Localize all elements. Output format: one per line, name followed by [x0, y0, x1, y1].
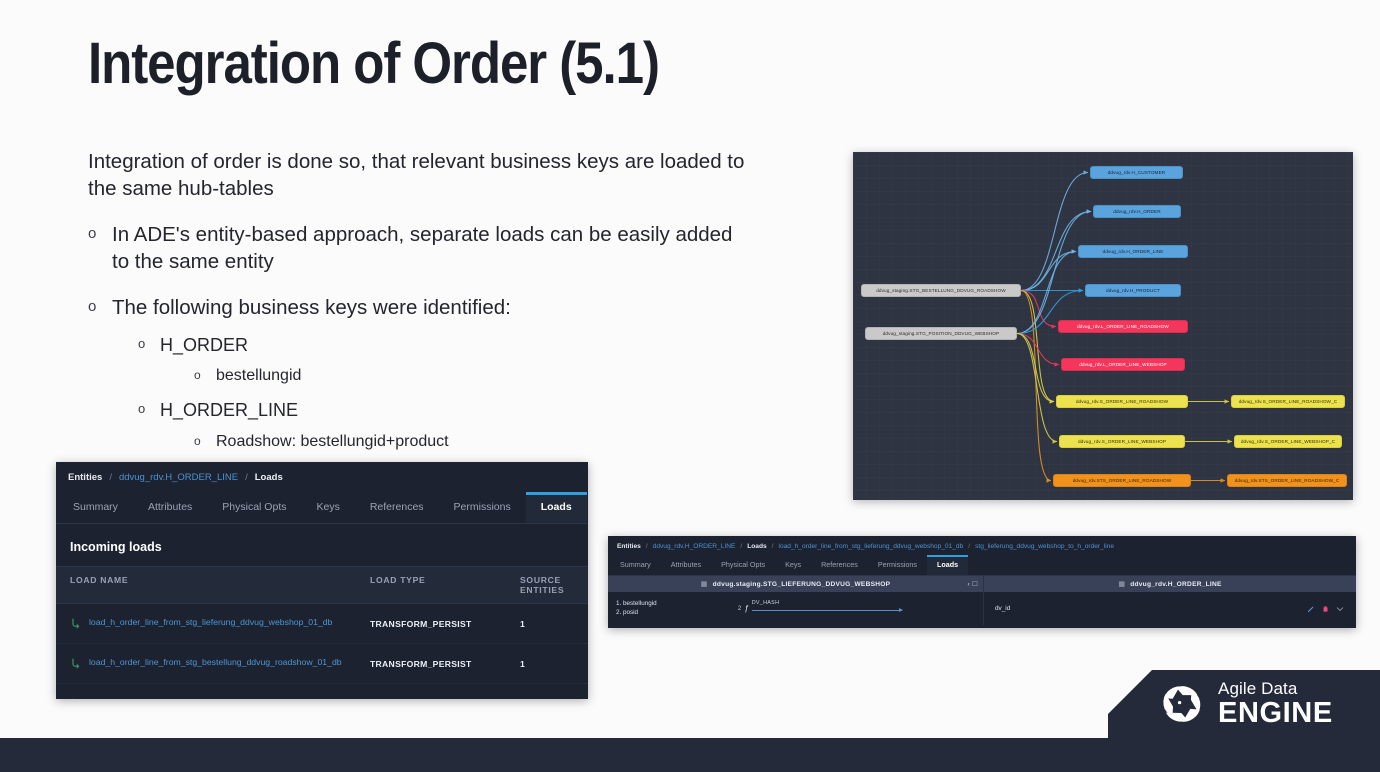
tab-bar[interactable]: SummaryAttributesPhysical OptsKeysRefere… [608, 555, 1356, 576]
cell-load-type: TRANSFORM_PERSIST [370, 659, 520, 669]
graph-node[interactable]: ddvug_rdv.S_ORDER_LINE_ROADSHOW_C [1231, 395, 1345, 408]
section-title: Incoming loads [56, 524, 588, 566]
tab-attributes[interactable]: Attributes [133, 492, 207, 523]
load-name-link[interactable]: load_h_order_line_from_stg_bestellung_dd… [89, 656, 342, 668]
sub-sub-bullet-text: Roadshow: bestellungid+product [216, 432, 449, 453]
breadcrumb-entity[interactable]: ddvug_rdv.H_ORDER_LINE [653, 543, 736, 550]
footer-bar [0, 738, 1380, 772]
breadcrumb-root[interactable]: Entities [617, 543, 641, 550]
brand-line-2: ENGINE [1218, 699, 1333, 728]
breadcrumb-mapping: stg_lieferung_ddvug_webshop_to_h_order_l… [975, 543, 1114, 550]
cell-load-name: load_h_order_line_from_stg_position_ddvu… [70, 696, 370, 699]
bullet-marker: o [88, 295, 112, 322]
bullet-text: The following business keys were identif… [112, 295, 748, 322]
load-arrow-icon [70, 657, 82, 671]
tab-summary[interactable]: Summary [58, 492, 133, 523]
table-row[interactable]: load_h_order_line_from_stg_bestellung_dd… [56, 644, 588, 684]
mapping-arrow: DV_HASH [752, 604, 902, 613]
mapping-function: 2 ƒ DV_HASH [657, 604, 975, 613]
tab-loads[interactable]: Loads [526, 492, 587, 523]
page-title: Integration of Order (5.1) [88, 34, 659, 95]
tab-permissions[interactable]: Permissions [868, 555, 927, 575]
graph-node[interactable]: ddvug_rdv.H_CUSTOMER [1090, 166, 1183, 179]
sub-bullet-item: o H_ORDER [88, 334, 748, 357]
graph-node[interactable]: ddvug_rdv.STS_ORDER_LINE_ROADSHOW_C [1227, 474, 1347, 487]
load-name-link[interactable]: load_h_order_line_from_stg_lieferung_ddv… [89, 616, 332, 628]
load-arrow-icon [70, 617, 82, 631]
load-name-link[interactable]: load_h_order_line_from_stg_position_ddvu… [89, 696, 329, 699]
breadcrumb-root[interactable]: Entities [68, 472, 102, 483]
tab-keys[interactable]: Keys [302, 492, 355, 523]
chevron-down-icon[interactable] [1336, 606, 1344, 612]
slide-body: Integration of order is done so, that re… [88, 148, 748, 482]
aperture-icon [1160, 682, 1204, 726]
sub-bullet-text: H_ORDER [160, 334, 248, 357]
cell-load-type: TRANSFORM_PERSIST [370, 699, 520, 700]
cell-source-entities: 1 [520, 619, 574, 629]
cell-source-entities: 1 [520, 659, 574, 669]
row-actions[interactable] [1307, 605, 1348, 613]
tab-physical-opts[interactable]: Physical Opts [207, 492, 301, 523]
graph-node[interactable]: ddvug_rdv.H_PRODUCT [1085, 284, 1181, 297]
tab-permissions[interactable]: Permissions [439, 492, 526, 523]
source-header-actions[interactable]: ‹ ☐ [967, 580, 978, 588]
fx-label: DV_HASH [752, 600, 780, 606]
bullet-text: In ADE's entity-based approach, separate… [112, 222, 748, 275]
table-header: LOAD NAME LOAD TYPE SOURCE ENTITIES [56, 566, 588, 604]
graph-node[interactable]: ddvug_rdv.H_ORDER [1093, 205, 1181, 218]
mapping-panel[interactable]: Entities / ddvug_rdv.H_ORDER_LINE / Load… [608, 536, 1356, 628]
column-header-source-entities: SOURCE ENTITIES [520, 575, 574, 595]
source-body: 1. bestellungid 2. posid 2 ƒ DV_HASH [608, 592, 983, 625]
graph-node[interactable]: ddvug_rdv.S_ORDER_LINE_ROADSHOW [1056, 395, 1188, 408]
delete-icon[interactable] [1322, 605, 1329, 613]
breadcrumb-separator: / [646, 543, 648, 550]
graph-node[interactable]: ddvug_rdv.L_ORDER_LINE_WEBSHOP [1061, 358, 1185, 371]
graph-node[interactable]: ddvug_staging.STG_BESTELLUNG_DDVUG_ROADS… [861, 284, 1021, 297]
breadcrumb-entity[interactable]: ddvug_rdv.H_ORDER_LINE [119, 472, 238, 483]
brand-text: Agile Data ENGINE [1218, 680, 1333, 728]
cell-load-name: load_h_order_line_from_stg_bestellung_dd… [70, 656, 370, 671]
bullet-item: o In ADE's entity-based approach, separa… [88, 222, 748, 275]
brand-line-1: Agile Data [1218, 680, 1333, 697]
tab-keys[interactable]: Keys [775, 555, 811, 575]
table-icon: ▦ [701, 580, 708, 588]
table-row[interactable]: load_h_order_line_from_stg_lieferung_ddv… [56, 604, 588, 644]
mapping-row: ▦ ddvug.staging.STG_LIEFERUNG_DDVUG_WEBS… [608, 576, 1356, 625]
lineage-graph-panel[interactable]: ddvug_rdv.H_CUSTOMERddvug_rdv.H_ORDERddv… [853, 152, 1353, 500]
source-header: ▦ ddvug.staging.STG_LIEFERUNG_DDVUG_WEBS… [608, 576, 983, 592]
sub-sub-bullet-item: o bestellungid [88, 366, 748, 387]
breadcrumb-separator: / [740, 543, 742, 550]
column-header-load-name: LOAD NAME [70, 575, 370, 595]
target-field: dv_id [992, 605, 1010, 612]
tab-references[interactable]: References [355, 492, 439, 523]
load-arrow-icon [70, 697, 82, 699]
breadcrumb-separator: / [968, 543, 970, 550]
breadcrumb-section[interactable]: Loads [747, 543, 766, 550]
breadcrumb-load[interactable]: load_h_order_line_from_stg_lieferung_ddv… [778, 543, 963, 550]
tab-summary[interactable]: Summary [610, 555, 661, 575]
table-row[interactable]: load_h_order_line_from_stg_position_ddvu… [56, 684, 588, 699]
graph-node[interactable]: ddvug_rdv.L_ORDER_LINE_ROADSHOW [1058, 320, 1188, 333]
target-header-label: ddvug_rdv.H_ORDER_LINE [1130, 581, 1221, 588]
breadcrumb: Entities / ddvug_rdv.H_ORDER_LINE / Load… [608, 536, 1356, 555]
breadcrumb-separator: / [109, 472, 112, 483]
sub-bullet-item: o H_ORDER_LINE [88, 399, 748, 422]
mapping-target-column: ▦ ddvug_rdv.H_ORDER_LINE dv_id [984, 576, 1356, 625]
cell-load-name: load_h_order_line_from_stg_lieferung_ddv… [70, 616, 370, 631]
fx-count: 2 [738, 606, 741, 612]
breadcrumb-current: Loads [255, 472, 283, 483]
source-header-label: ddvug.staging.STG_LIEFERUNG_DDVUG_WEBSHO… [713, 581, 891, 588]
table-icon: ▦ [1118, 580, 1125, 588]
cell-source-entities: 1 [520, 699, 574, 700]
breadcrumb-separator: / [245, 472, 248, 483]
breadcrumb: Entities / ddvug_rdv.H_ORDER_LINE / Load… [56, 462, 588, 492]
brand-logo: Agile Data ENGINE [1108, 670, 1380, 738]
sub-sub-bullet-item: o Roadshow: bestellungid+product [88, 432, 748, 453]
source-fields: 1. bestellungid 2. posid [616, 600, 657, 618]
function-icon: ƒ [744, 604, 748, 613]
sub-sub-bullet-text: bestellungid [216, 366, 301, 387]
target-body: dv_id [984, 592, 1356, 625]
loads-panel[interactable]: Entities / ddvug_rdv.H_ORDER_LINE / Load… [56, 462, 588, 699]
breadcrumb-separator: / [772, 543, 774, 550]
bullet-marker: o [88, 222, 112, 275]
cell-load-type: TRANSFORM_PERSIST [370, 619, 520, 629]
mapping-source-column: ▦ ddvug.staging.STG_LIEFERUNG_DDVUG_WEBS… [608, 576, 984, 625]
column-header-load-type: LOAD TYPE [370, 575, 520, 595]
source-field: 2. posid [616, 609, 657, 618]
target-header: ▦ ddvug_rdv.H_ORDER_LINE [984, 576, 1356, 592]
slide-root: Integration of Order (5.1) Integration o… [0, 0, 1380, 772]
lead-paragraph: Integration of order is done so, that re… [88, 148, 748, 202]
graph-node[interactable]: ddvug_rdv.STS_ORDER_LINE_ROADSHOW [1053, 474, 1191, 487]
sub-bullet-text: H_ORDER_LINE [160, 399, 298, 422]
graph-node[interactable]: ddvug_rdv.H_ORDER_LINE [1078, 245, 1188, 258]
bullet-item: o The following business keys were ident… [88, 295, 748, 322]
bullet-marker: o [138, 334, 160, 357]
bullet-marker: o [194, 366, 216, 387]
bullet-marker: o [194, 432, 216, 453]
graph-node[interactable]: ddvug_rdv.S_ORDER_LINE_WEBSHOP [1059, 435, 1185, 448]
edit-icon[interactable] [1307, 605, 1315, 613]
graph-node[interactable]: ddvug_rdv.S_ORDER_LINE_WEBSHOP_C [1234, 435, 1342, 448]
loads-table-body: load_h_order_line_from_stg_lieferung_ddv… [56, 604, 588, 699]
source-field: 1. bestellungid [616, 600, 657, 609]
tab-loads[interactable]: Loads [927, 555, 968, 575]
bullet-marker: o [138, 399, 160, 422]
tab-bar[interactable]: SummaryAttributesPhysical OptsKeysRefere… [56, 492, 588, 524]
tab-physical-opts[interactable]: Physical Opts [711, 555, 775, 575]
tab-references[interactable]: References [811, 555, 868, 575]
tab-attributes[interactable]: Attributes [661, 555, 711, 575]
arrow-line [752, 610, 902, 611]
graph-node[interactable]: ddvug_staging.STG_POSITION_DDVUG_WEBSHOP [865, 327, 1017, 340]
